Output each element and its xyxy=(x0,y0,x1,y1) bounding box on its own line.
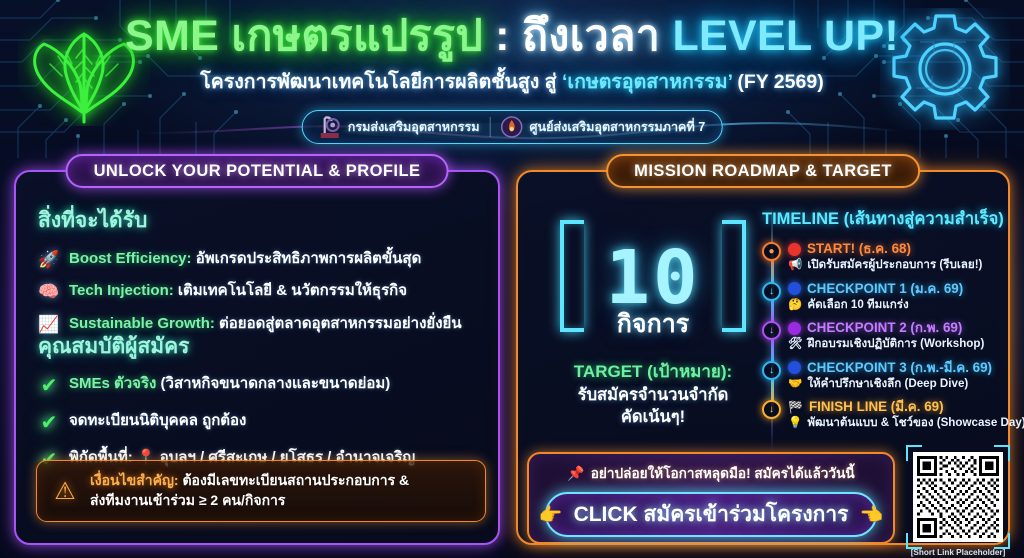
qr-corner-tr-icon xyxy=(994,445,1010,461)
timeline-item-subtitle: ฝึกอบรมเชิงปฏิบัติการ (Workshop) xyxy=(808,337,985,351)
timeline-item-title-row: CHECKPOINT 3 (ก.พ.-มี.ค. 69) xyxy=(788,360,994,376)
target-heading: TARGET (เป้าหมาย): xyxy=(544,358,762,385)
subtitle-pre: โครงการพัฒนาเทคโนโลยีการผลิตชั้นสูง สู่ xyxy=(200,71,562,93)
timeline-node-icon: ↓ xyxy=(762,282,781,301)
title-segment-cyan: LEVEL UP! xyxy=(672,12,899,60)
qualification-detail: จดทะเบียนนิติบุคคล ถูกต้อง xyxy=(69,412,246,429)
target-line-2: คัดเน้นๆ! xyxy=(544,407,762,429)
lightbulb-icon: 💡 xyxy=(788,416,802,430)
timeline-node-icon: ● xyxy=(762,242,781,261)
timeline-item: ↓ CHECKPOINT 3 (ก.พ.-มี.ค. 69) 🤝 ให้คำปร… xyxy=(788,360,994,392)
timeline-item-sub-row: 📢 เปิดรับสมัครผู้ประกอบการ (รีบเลย!) xyxy=(788,258,994,272)
timeline-item-title: CHECKPOINT 1 (ม.ค. 69) xyxy=(807,281,963,297)
poster-canvas: SME เกษตรแปรรูป : ถึงเวลา LEVEL UP! โครง… xyxy=(0,0,1024,558)
benefit-lead: Tech Injection: xyxy=(69,282,174,299)
benefit-lead: Boost Efficiency: xyxy=(69,250,192,267)
org-label-0: กรมส่งเสริมอุตสาหกรรม xyxy=(348,117,480,137)
qualifications-section: คุณสมบัติผู้สมัคร ✔ SMEs ตัวจริง (วิสาหก… xyxy=(38,330,484,473)
qualification-lead: SMEs ตัวจริง xyxy=(69,375,156,392)
left-panel: UNLOCK YOUR POTENTIAL & PROFILE สิ่งที่จ… xyxy=(14,170,500,545)
qr-code[interactable] xyxy=(913,452,1003,542)
target-text-block: TARGET (เป้าหมาย): รับสมัครจำนวนจำกัด คั… xyxy=(544,358,762,429)
pushpin-icon: 📌 xyxy=(567,465,584,482)
timeline-list: ● START! (ธ.ค. 68) 📢 เปิดรับสมัครผู้ประก… xyxy=(762,241,994,431)
timeline-item-title-row: CHECKPOINT 1 (ม.ค. 69) xyxy=(788,281,994,297)
timeline-status-dot xyxy=(788,282,801,295)
timeline-item-sub-row: 🤔 คัดเลือก 10 ทีมแกร่ง xyxy=(788,298,994,312)
checkered-flag-icon: 🏁 xyxy=(788,400,803,414)
timeline-node-icon: ↓ xyxy=(762,321,781,340)
right-panel-title: MISSION ROADMAP & TARGET xyxy=(606,154,920,188)
qr-corner-tl-icon xyxy=(906,445,922,461)
org-label-1: ศูนย์ส่งเสริมอุตสาหกรรมภาคที่ 7 xyxy=(530,117,706,137)
counter-unit: กิจการ xyxy=(544,304,762,344)
poster-title: SME เกษตรแปรรูป : ถึงเวลา LEVEL UP! xyxy=(0,14,1024,59)
benefit-detail: เติมเทคโนโลยี & นวัตกรรมให้ธุรกิจ xyxy=(174,282,407,299)
benefits-list: 🚀 Boost Efficiency: อัพเกรดประสิทธิภาพกา… xyxy=(38,249,484,335)
timeline-node-icon: ↓ xyxy=(762,361,781,380)
qr-corner-bl-icon xyxy=(906,533,922,549)
cta-headline-row: 📌 อย่าปล่อยให้โอกาสหลุดมือ! สมัครได้แล้ว… xyxy=(539,462,883,484)
hand-left-icon: 👈 xyxy=(859,503,883,527)
qr-caption: [Short Link Placeholder] xyxy=(906,548,1010,557)
timeline-item-title-row: CHECKPOINT 2 (ก.พ. 69) xyxy=(788,320,994,336)
benefit-text: Boost Efficiency: อัพเกรดประสิทธิภาพการผ… xyxy=(69,249,421,269)
benefit-item: 🚀 Boost Efficiency: อัพเกรดประสิทธิภาพกา… xyxy=(38,249,484,270)
cta-box[interactable]: 📌 อย่าปล่อยให้โอกาสหลุดมือ! สมัครได้แล้ว… xyxy=(527,452,895,544)
warning-triangle-icon: ⚠ xyxy=(51,477,79,506)
qualifications-list: ✔ SMEs ตัวจริง (วิสาหกิจขนาดกลางและขนาดย… xyxy=(38,374,484,473)
qualification-text: SMEs ตัวจริง (วิสาหกิจขนาดกลางและขนาดย่อ… xyxy=(69,374,390,394)
title-segment-green: SME เกษตรแปรรูป xyxy=(125,12,483,60)
benefit-text: Tech Injection: เติมเทคโนโลยี & นวัตกรรม… xyxy=(69,281,407,301)
qualification-text: จดทะเบียนนิติบุคคล ถูกต้อง xyxy=(69,411,246,431)
important-condition-box: ⚠ เงื่อนไขสำคัญ: ต้องมีเลขทะเบียนสถานประ… xyxy=(36,460,486,522)
timeline-item-title-row: START! (ธ.ค. 68) xyxy=(788,241,994,257)
timeline-item-title-row: 🏁 FINISH LINE (มี.ค. 69) xyxy=(788,399,994,415)
org-divider xyxy=(490,117,491,137)
rocket-icon: 🚀 xyxy=(38,249,60,270)
qualification-item: ✔ จดทะเบียนนิติบุคคล ถูกต้อง xyxy=(38,411,484,436)
warning-text: เงื่อนไขสำคัญ: ต้องมีเลขทะเบียนสถานประกอ… xyxy=(90,471,409,511)
benefits-section: สิ่งที่จะได้รับ 🚀 Boost Efficiency: อัพเ… xyxy=(38,204,484,335)
check-icon: ✔ xyxy=(38,374,60,399)
qr-block[interactable]: [Short Link Placeholder] xyxy=(906,452,1010,557)
timeline-item-subtitle: พัฒนาต้นแบบ & โชว์ของ (Showcase Day) xyxy=(807,416,1024,430)
timeline-status-dot xyxy=(788,322,801,335)
timeline-item-sub-row: 🤝 ให้คำปรึกษาเชิงลึก (Deep Dive) xyxy=(788,377,994,391)
header-title-block: SME เกษตรแปรรูป : ถึงเวลา LEVEL UP! โครง… xyxy=(0,14,1024,97)
check-icon: ✔ xyxy=(38,411,60,436)
timeline-node-icon: ↓ xyxy=(762,400,781,419)
timeline-item-title: START! (ธ.ค. 68) xyxy=(807,241,911,257)
poster-subtitle: โครงการพัฒนาเทคโนโลยีการผลิตชั้นสูง สู่ … xyxy=(0,66,1024,97)
counter-bracket-frame: 10 กิจการ xyxy=(544,214,762,342)
timeline-item-title: CHECKPOINT 2 (ก.พ. 69) xyxy=(807,320,962,336)
timeline-section: TIMELINE (เส้นทางสู่ความสำเร็จ) ● START!… xyxy=(762,206,994,439)
timeline-item-subtitle: คัดเลือก 10 ทีมแกร่ง xyxy=(807,298,908,312)
qr-corner-br-icon xyxy=(994,533,1010,549)
qualification-item: ✔ SMEs ตัวจริง (วิสาหกิจขนาดกลางและขนาดย… xyxy=(38,374,484,399)
apply-button-label: CLICK สมัครเข้าร่วมโครงการ xyxy=(574,498,849,531)
timeline-item: ↓ CHECKPOINT 1 (ม.ค. 69) 🤔 คัดเลือก 10 ท… xyxy=(788,281,994,313)
timeline-item-title: CHECKPOINT 3 (ก.พ.-มี.ค. 69) xyxy=(807,360,992,376)
benefit-detail: อัพเกรดประสิทธิภาพการผลิตขั้นสุด xyxy=(192,250,422,267)
apply-button[interactable]: 👉 CLICK สมัครเข้าร่วมโครงการ 👈 xyxy=(545,492,877,537)
timeline-status-dot xyxy=(788,243,801,256)
timeline-item-sub-row: 🛠 ฝึกอบรมเชิงปฏิบัติการ (Workshop) xyxy=(788,337,994,351)
qualification-detail: (วิสาหกิจขนาดกลางและขนาดย่อม) xyxy=(156,375,390,392)
title-segment-white: : ถึงเวลา xyxy=(483,12,673,60)
timeline-item-sub-row: 💡 พัฒนาต้นแบบ & โชว์ของ (Showcase Day) xyxy=(788,416,994,430)
timeline-status-dot xyxy=(788,361,801,374)
handshake-icon: 🤝 xyxy=(788,377,802,391)
timeline-heading: TIMELINE (เส้นทางสู่ความสำเร็จ) xyxy=(762,206,994,232)
hand-right-icon: 👉 xyxy=(539,503,563,527)
warning-line2: ส่งทีมงานเข้าร่วม ≥ 2 คน/กิจการ xyxy=(90,492,285,508)
timeline-item-subtitle: ให้คำปรึกษาเชิงลึก (Deep Dive) xyxy=(807,377,968,391)
timeline-item-subtitle: เปิดรับสมัครผู้ประกอบการ (รีบเลย!) xyxy=(807,258,982,272)
timeline-item: ↓ CHECKPOINT 2 (ก.พ. 69) 🛠 ฝึกอบรมเชิงปฏ… xyxy=(788,320,994,352)
subtitle-post: (FY 2569) xyxy=(732,71,823,93)
header: SME เกษตรแปรรูป : ถึงเวลา LEVEL UP! โครง… xyxy=(0,0,1024,158)
benefits-heading: สิ่งที่จะได้รับ xyxy=(38,204,484,237)
qr-matrix xyxy=(917,456,999,538)
tools-icon: 🛠 xyxy=(788,337,803,351)
brain-gear-icon: 🧠 xyxy=(38,281,60,302)
target-counter-block: 10 กิจการ TARGET (เป้าหมาย): รับสมัครจำน… xyxy=(544,214,762,429)
benefit-item: 🧠 Tech Injection: เติมเทคโนโลยี & นวัตกร… xyxy=(38,281,484,302)
megaphone-icon: 📢 xyxy=(788,258,802,272)
warning-highlight: เงื่อนไขสำคัญ: xyxy=(90,472,179,488)
qualifications-heading: คุณสมบัติผู้สมัคร xyxy=(38,330,484,363)
thinking-face-icon: 🤔 xyxy=(788,298,802,312)
cta-headline: อย่าปล่อยให้โอกาสหลุดมือ! สมัครได้แล้ววั… xyxy=(591,462,855,484)
timeline-item: ● START! (ธ.ค. 68) 📢 เปิดรับสมัครผู้ประก… xyxy=(788,241,994,273)
benefit-lead: Sustainable Growth: xyxy=(69,315,215,332)
warning-line1: ต้องมีเลขทะเบียนสถานประกอบการ & xyxy=(179,472,410,488)
organization-badge-bar: กรมส่งเสริมอุตสาหกรรม ศูนย์ส่งเสริมอุตสา… xyxy=(302,110,723,144)
org-item-1: ศูนย์ส่งเสริมอุตสาหกรรมภาคที่ 7 xyxy=(501,115,706,139)
target-line-1: รับสมัครจำนวนจำกัด xyxy=(544,385,762,407)
subtitle-highlight: ‘เกษตรอุตสาหกรรม’ xyxy=(562,71,732,93)
left-panel-title: UNLOCK YOUR POTENTIAL & PROFILE xyxy=(66,154,449,188)
dip-logo-icon xyxy=(319,115,341,139)
org-item-0: กรมส่งเสริมอุตสาหกรรม xyxy=(319,115,480,139)
timeline-item-title: FINISH LINE (มี.ค. 69) xyxy=(809,399,944,415)
region7-logo-icon xyxy=(501,115,523,139)
timeline-item: ↓ 🏁 FINISH LINE (มี.ค. 69) 💡 พัฒนาต้นแบบ… xyxy=(788,399,994,431)
benefit-detail: ต่อยอดสู่ตลาดอุตสาหกรรมอย่างยั่งยืน xyxy=(215,315,462,332)
